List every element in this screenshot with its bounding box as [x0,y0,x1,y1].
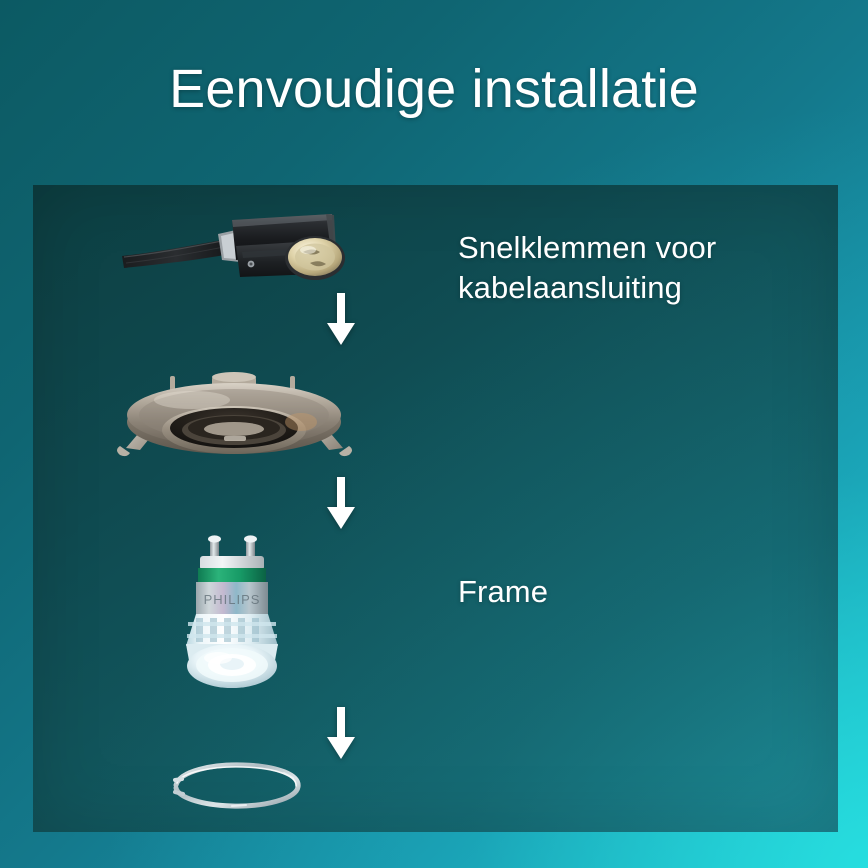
gu10-led-illustration: PHILIPS [33,530,433,695]
step-label-clamp: Snelklemmen voor kabelaansluiting [458,228,716,307]
svg-text:PHILIPS: PHILIPS [204,592,261,607]
step-row-clamp: Snelklemmen voor kabelaansluiting [33,200,838,320]
metal-ring-illustration [33,755,433,817]
page-title: Eenvoudige installatie [0,58,868,120]
step-row-lamp: PHILIPS [33,530,838,705]
frame-illustration [33,360,433,475]
installation-diagram-slide: Eenvoudige installatie [0,0,868,868]
step-row-ring: Metalen ring [33,755,838,825]
diagram-panel: Snelklemmen voor kabelaansluiting [33,185,838,832]
clamp-illustration [33,200,433,310]
down-arrow-icon [324,707,358,759]
step-row-frame: Frame [33,360,838,480]
down-arrow-icon [324,477,358,529]
step-label-clamp-line1: Snelklemmen voor [458,228,716,268]
down-arrow-icon [324,293,358,345]
step-label-clamp-line2: kabelaansluiting [458,268,716,308]
